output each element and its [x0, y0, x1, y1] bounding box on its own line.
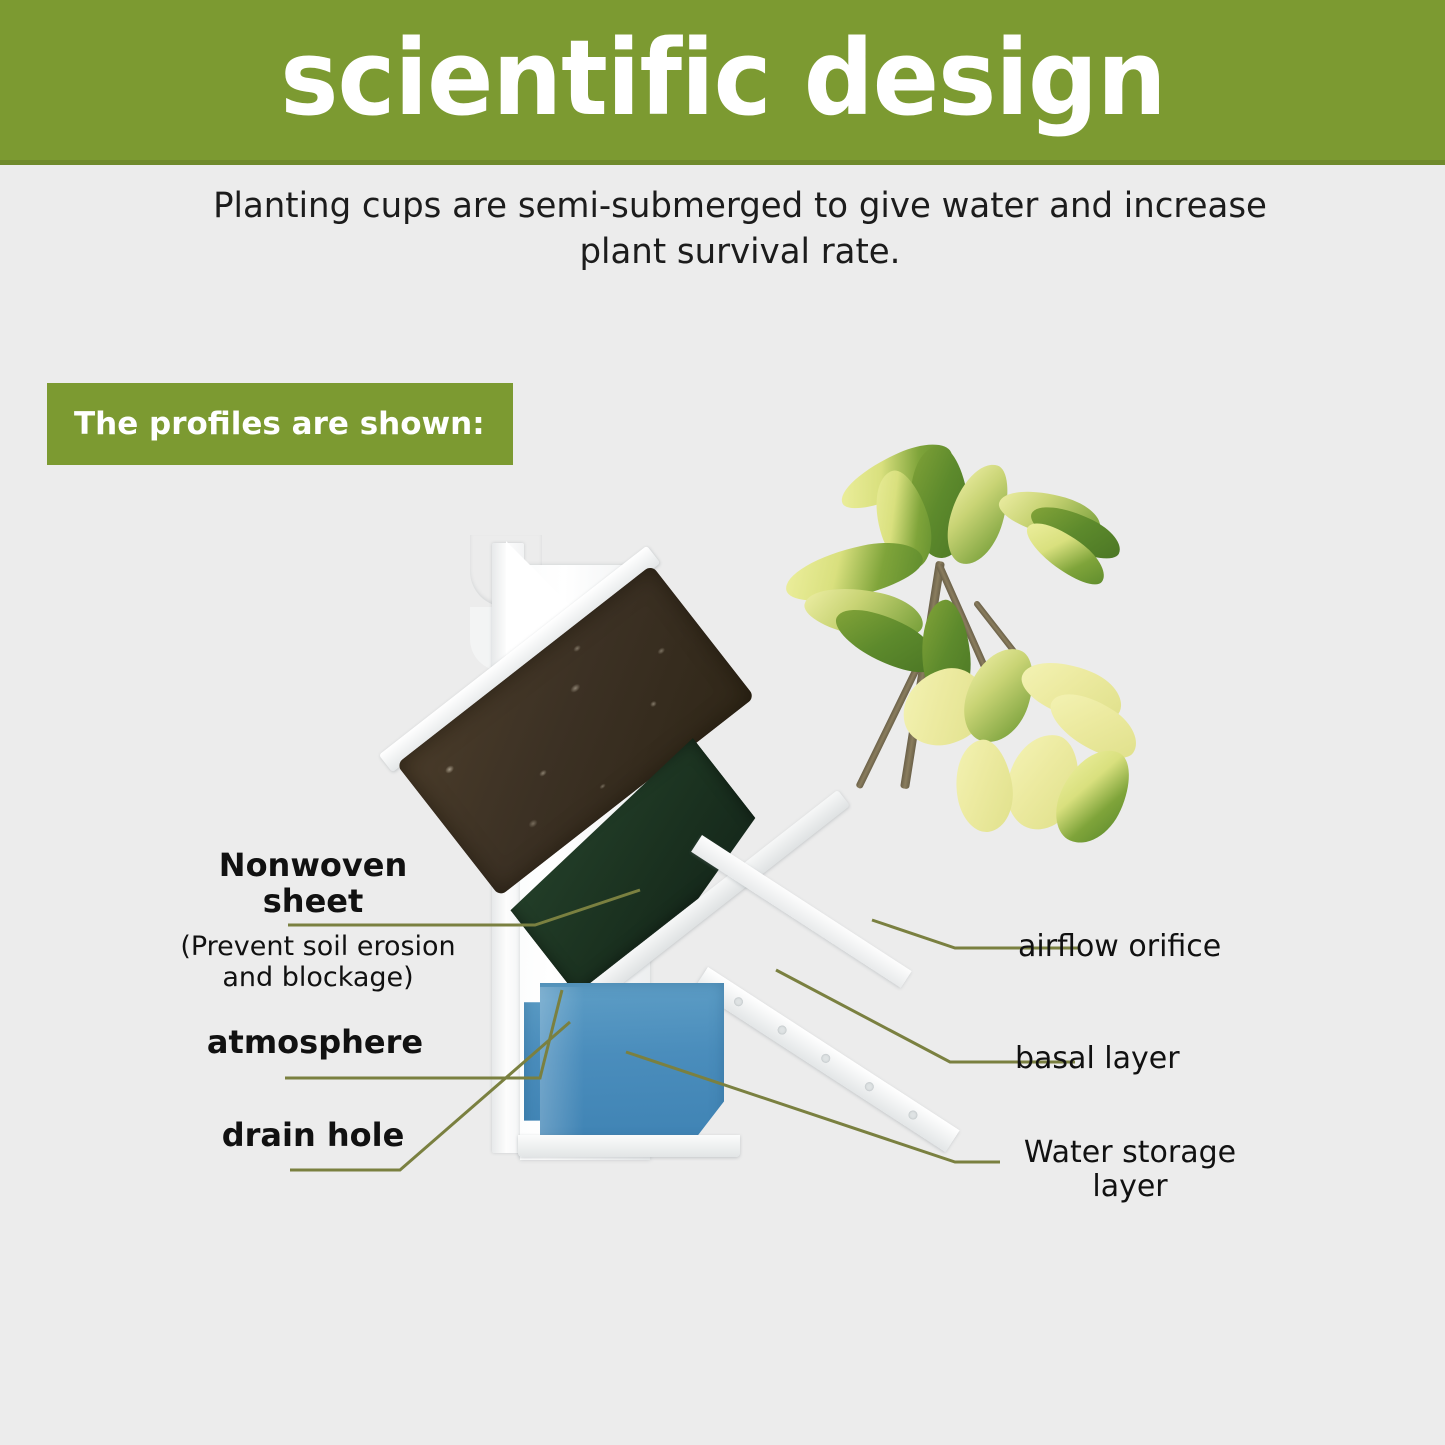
callout-nonwoven-sheet: Nonwoven sheet — [198, 848, 428, 920]
callout-atmosphere-title: atmosphere — [200, 1025, 430, 1061]
schefflera-plant — [770, 440, 1210, 900]
callout-basal-layer: basal layer — [1015, 1042, 1345, 1076]
callout-nonwoven-sheet-title: Nonwoven sheet — [198, 848, 428, 920]
water-surface-sheen — [540, 987, 584, 1137]
basal-layer-shelf — [694, 967, 960, 1152]
airflow-orifice-hole — [863, 1080, 875, 1092]
callout-nonwoven-sheet-note-text: (Prevent soil erosion and blockage) — [178, 932, 458, 994]
cup-bottom-rim — [518, 1135, 740, 1157]
airflow-orifice-hole — [776, 1024, 788, 1036]
callout-water-storage-layer: Water storage layer — [1010, 1136, 1250, 1203]
callout-water-storage-layer-title: Water storage layer — [1010, 1136, 1250, 1203]
plant-leaf — [948, 736, 1019, 836]
airflow-orifice-hole — [732, 995, 744, 1007]
diagram-stage: Nonwoven sheet (Prevent soil erosion and… — [0, 430, 1445, 1220]
callout-airflow-orifice-title: airflow orifice — [1018, 930, 1348, 964]
callout-drain-hole-title: drain hole — [198, 1118, 428, 1154]
header-banner: scientific design — [0, 0, 1445, 160]
callout-drain-hole: drain hole — [198, 1118, 428, 1154]
subtitle-text: Planting cups are semi-submerged to give… — [168, 183, 1313, 275]
airflow-orifice-hole — [907, 1109, 919, 1121]
callout-nonwoven-sheet-note: (Prevent soil erosion and blockage) — [178, 932, 458, 994]
callout-basal-layer-title: basal layer — [1015, 1042, 1345, 1076]
product-infographic-page: scientific design Planting cups are semi… — [0, 0, 1445, 1445]
planting-cup-illustration — [470, 535, 990, 1175]
page-title: scientific design — [280, 26, 1165, 130]
airflow-orifice-hole — [820, 1052, 832, 1064]
callout-airflow-orifice: airflow orifice — [1018, 930, 1348, 964]
header-banner-edge — [0, 160, 1445, 165]
callout-atmosphere: atmosphere — [200, 1025, 430, 1061]
